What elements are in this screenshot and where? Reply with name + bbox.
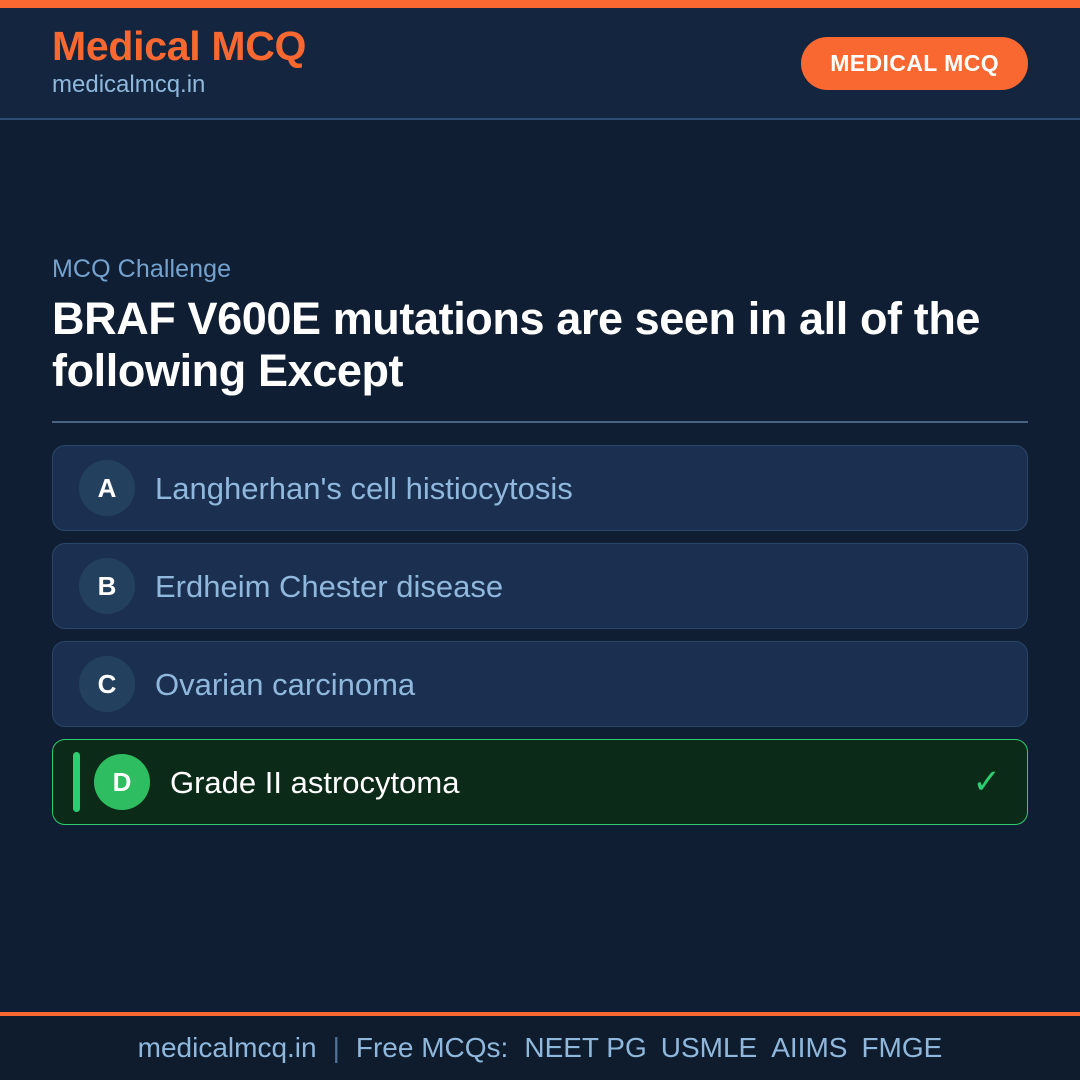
brand: Medical MCQ medicalmcq.in (52, 26, 306, 101)
footer-exam: FMGE (861, 1032, 942, 1064)
footer-content: medicalmcq.in | Free MCQs: NEET PGUSMLEA… (138, 1032, 943, 1064)
main-content: MCQ Challenge BRAF V600E mutations are s… (0, 120, 1080, 1012)
question-title: BRAF V600E mutations are seen in all of … (52, 293, 1012, 397)
correct-accent-bar (73, 752, 80, 812)
question-divider (52, 421, 1028, 423)
brand-title: Medical MCQ (52, 26, 306, 68)
header: Medical MCQ medicalmcq.in MEDICAL MCQ (0, 8, 1080, 120)
check-icon: ✓ (973, 765, 1002, 799)
option-c[interactable]: COvarian carcinoma✓ (52, 641, 1028, 727)
footer-exam: AIIMS (771, 1032, 847, 1064)
question-eyebrow: MCQ Challenge (52, 255, 1028, 284)
top-accent-bar (0, 0, 1080, 8)
footer-separator: | (333, 1032, 340, 1064)
option-b[interactable]: BErdheim Chester disease✓ (52, 543, 1028, 629)
header-badge: MEDICAL MCQ (801, 37, 1028, 90)
option-letter-badge: A (79, 460, 135, 516)
option-d[interactable]: DGrade II astrocytoma✓ (52, 739, 1028, 825)
footer-exam-list: NEET PGUSMLEAIIMSFMGE (524, 1032, 942, 1064)
brand-subtitle: medicalmcq.in (52, 70, 306, 100)
footer-label: Free MCQs: (356, 1032, 508, 1064)
options-list: ALangherhan's cell histiocytosis✓BErdhei… (52, 445, 1028, 825)
option-letter-badge: D (94, 754, 150, 810)
option-text: Ovarian carcinoma (155, 666, 957, 703)
option-letter-badge: C (79, 656, 135, 712)
option-a[interactable]: ALangherhan's cell histiocytosis✓ (52, 445, 1028, 531)
footer-site: medicalmcq.in (138, 1032, 317, 1064)
option-letter-badge: B (79, 558, 135, 614)
option-text: Langherhan's cell histiocytosis (155, 470, 957, 507)
mcq-card: Medical MCQ medicalmcq.in MEDICAL MCQ MC… (0, 0, 1080, 1080)
question-block: MCQ Challenge BRAF V600E mutations are s… (52, 255, 1028, 825)
option-text: Erdheim Chester disease (155, 568, 957, 605)
footer-exam: USMLE (661, 1032, 757, 1064)
footer-exam: NEET PG (524, 1032, 646, 1064)
footer: medicalmcq.in | Free MCQs: NEET PGUSMLEA… (0, 1012, 1080, 1080)
option-text: Grade II astrocytoma (170, 764, 957, 801)
